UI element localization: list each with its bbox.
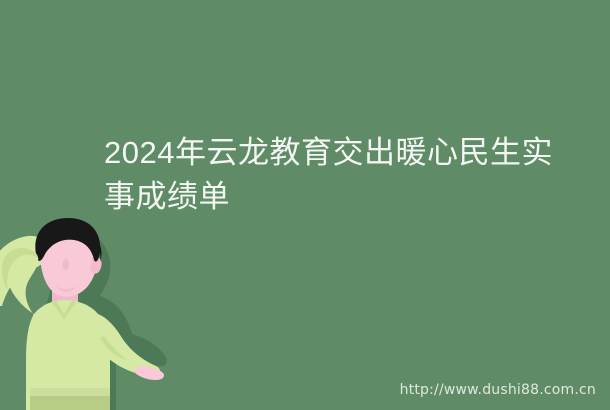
hair-front xyxy=(40,224,70,246)
page-title: 2024年云龙教育交出暖心民生实事成绩单 xyxy=(104,131,554,219)
illustration-background xyxy=(0,210,200,410)
ear xyxy=(90,257,102,274)
right-sleeve-fold xyxy=(100,336,128,360)
hand xyxy=(134,366,164,380)
person-scratching-head-illustration xyxy=(0,210,200,410)
trousers xyxy=(30,388,110,410)
hair-side xyxy=(86,236,101,262)
raised-arm xyxy=(0,236,48,306)
waistband xyxy=(30,388,110,396)
sweater-left-sleeve xyxy=(7,249,39,318)
sweater-torso xyxy=(26,300,110,410)
hair xyxy=(35,218,100,262)
neck xyxy=(52,284,78,310)
watermark-url: http://www.dushi88.com.cn xyxy=(400,382,596,398)
face xyxy=(40,224,98,297)
collar xyxy=(52,301,76,320)
poster-canvas: 2024年云龙教育交出暖心民生实事成绩单 http://www.dushi88.… xyxy=(0,0,610,410)
nose xyxy=(63,258,69,270)
mouth-shade xyxy=(56,286,76,292)
sleeve-shade xyxy=(2,248,38,290)
sweater-right-sleeve xyxy=(94,314,160,376)
figure-shadow xyxy=(44,232,167,410)
